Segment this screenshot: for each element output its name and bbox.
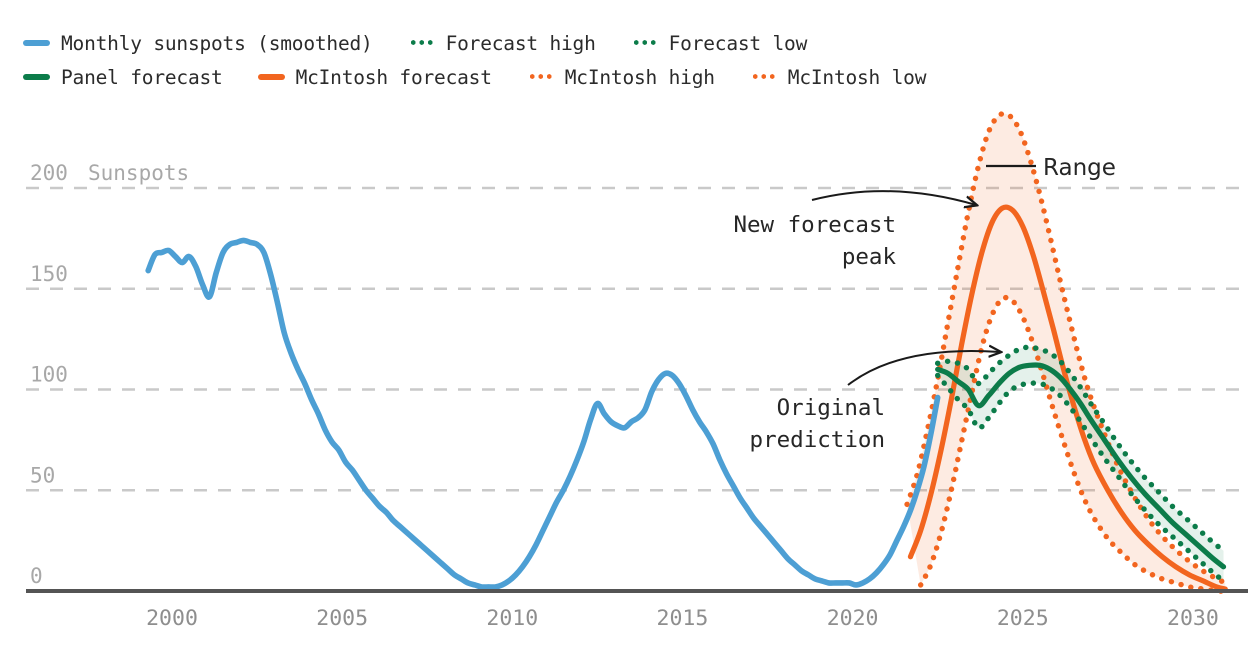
y-tick-label-0: 0 (30, 564, 43, 588)
x-tick-label-2025: 2025 (997, 606, 1049, 631)
annotation-line: Original (777, 395, 885, 421)
annotation-line: Range (1043, 155, 1116, 181)
annotation-line: prediction (750, 427, 885, 453)
annotation-new-forecast-peak: New forecastpeak (733, 212, 896, 270)
x-tick-label-2010: 2010 (486, 606, 538, 631)
chart-plot: 050100150200Sunspots 2000200520102015202… (0, 0, 1260, 660)
y-tick-labels: 050100150200Sunspots (30, 161, 189, 588)
y-axis-unit-label: Sunspots (88, 161, 189, 185)
x-tick-label-2020: 2020 (827, 606, 879, 631)
y-tick-label-50: 50 (30, 463, 55, 487)
annotation-range: Range (1043, 155, 1116, 181)
y-tick-label-150: 150 (30, 262, 68, 286)
leader-new-forecast-peak (812, 191, 976, 205)
annotation-original-prediction: Originalprediction (750, 395, 885, 453)
chart-root: Monthly sunspots (smoothed)Forecast high… (0, 0, 1260, 660)
y-tick-label-100: 100 (30, 363, 68, 387)
y-tick-label-200: 200 (30, 161, 68, 185)
annotation-line: peak (842, 244, 897, 270)
x-tick-label-2015: 2015 (657, 606, 709, 631)
x-tick-labels: 2000200520102015202020252030 (146, 606, 1219, 631)
x-tick-label-2000: 2000 (146, 606, 198, 631)
x-tick-label-2005: 2005 (316, 606, 368, 631)
band-areas (907, 114, 1225, 592)
annotation-line: New forecast (733, 212, 896, 238)
x-tick-label-2030: 2030 (1167, 606, 1219, 631)
